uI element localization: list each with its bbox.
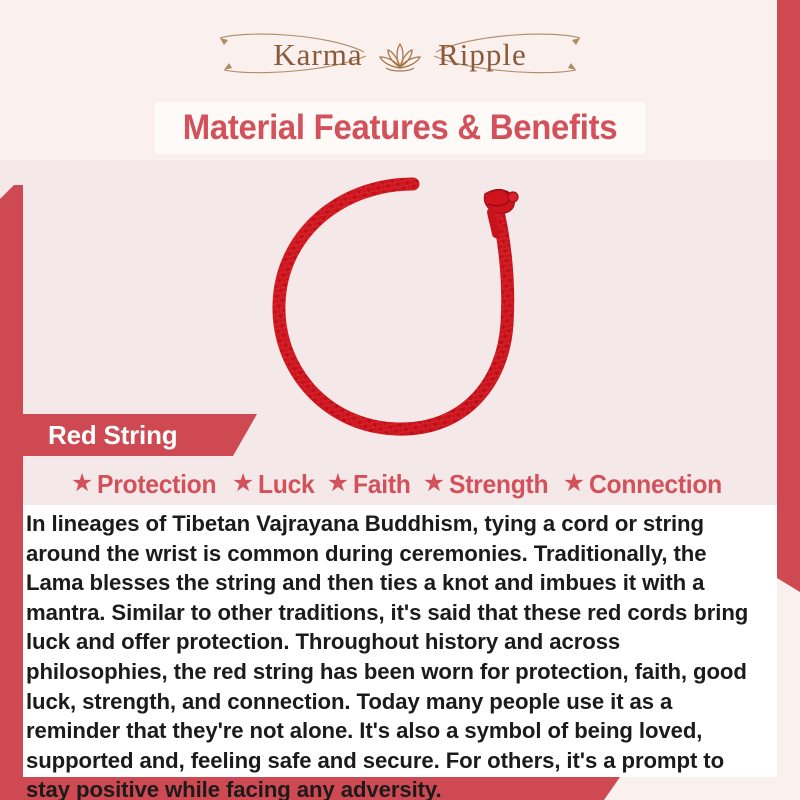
brand-name-left: Karma xyxy=(273,39,362,70)
star-icon: ★ xyxy=(423,471,445,496)
star-icon: ★ xyxy=(232,471,254,496)
benefit-label: Faith xyxy=(353,469,411,500)
benefit-item-protection: ★ Protection xyxy=(71,469,223,500)
benefit-item-strength: ★ Strength xyxy=(423,469,554,500)
benefit-label: Protection xyxy=(97,469,216,500)
lotus-icon xyxy=(377,40,423,74)
benefit-item-faith: ★ Faith xyxy=(327,469,414,500)
brand-logo[interactable]: Karma Ripple xyxy=(0,36,800,72)
benefit-label: Strength xyxy=(449,469,548,500)
material-name-label: Red String xyxy=(48,414,177,456)
description-text: In lineages of Tibetan Vajrayana Buddhis… xyxy=(26,509,763,800)
benefit-label: Luck xyxy=(258,469,315,500)
brand-name-right: Ripple xyxy=(438,39,527,70)
benefit-item-connection: ★ Connection xyxy=(563,469,729,500)
benefits-list: ★ Protection ★ Luck ★ Faith ★ Strength ★… xyxy=(20,464,780,504)
star-icon: ★ xyxy=(71,471,93,496)
infographic-page: Karma Ripple Material Features & Benefit… xyxy=(0,0,800,800)
star-icon: ★ xyxy=(563,471,585,496)
benefit-label: Connection xyxy=(589,469,722,500)
frame-bar-right xyxy=(777,0,800,592)
benefit-item-luck: ★ Luck xyxy=(232,469,318,500)
bracelet-product-image xyxy=(255,172,555,447)
star-icon: ★ xyxy=(327,471,349,496)
page-title: Material Features & Benefits xyxy=(170,103,631,153)
